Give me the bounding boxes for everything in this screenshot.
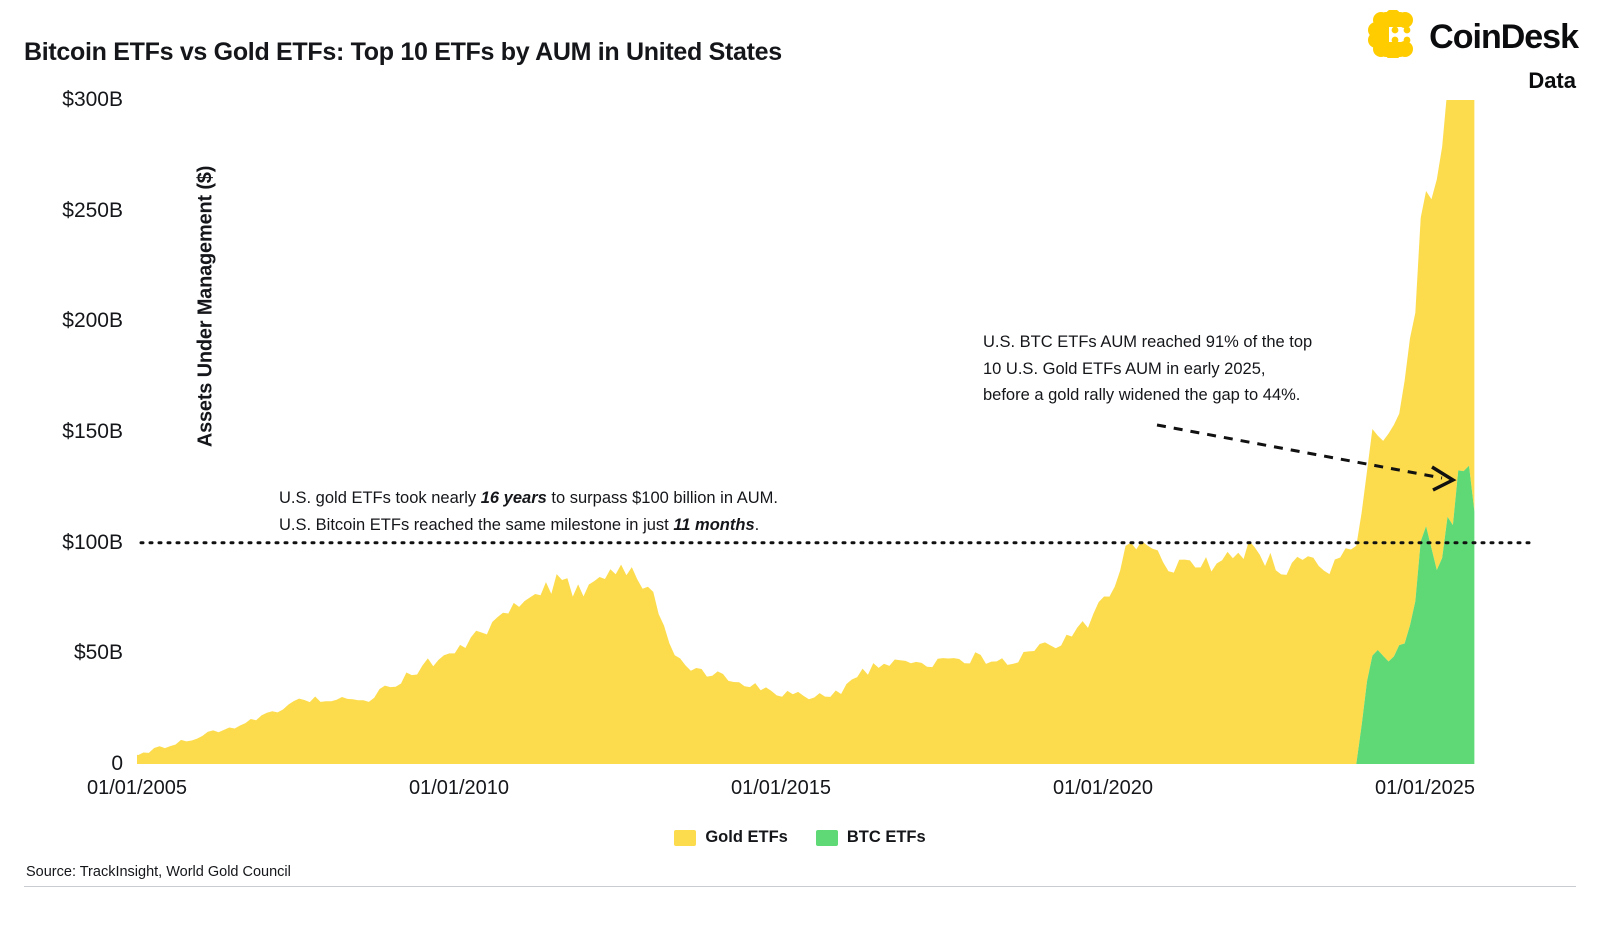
legend-swatch-gold-icon — [674, 830, 696, 846]
page-title: Bitcoin ETFs vs Gold ETFs: Top 10 ETFs b… — [24, 38, 782, 67]
annot-gold-l1-emph: 16 years — [481, 489, 547, 507]
y-tick-150: $150B — [62, 420, 123, 444]
y-tick-0: 0 — [111, 752, 123, 776]
x-tick-2020: 01/01/2020 — [1053, 777, 1153, 800]
annot-gold-l2-emph: 11 months — [673, 516, 754, 534]
coindesk-logo: CoinDesk Data — [1367, 10, 1578, 92]
annot-gold-l2-part1: U.S. Bitcoin ETFs reached the same miles… — [279, 516, 673, 534]
brand-subword: Data — [1528, 70, 1576, 92]
annotation-gold-line-2: U.S. Bitcoin ETFs reached the same miles… — [279, 512, 778, 539]
area-chart-svg — [137, 100, 1533, 764]
legend-label-btc: BTC ETFs — [847, 828, 926, 847]
chart-legend: Gold ETFs BTC ETFs — [0, 828, 1600, 847]
annotation-gold-line-1: U.S. gold ETFs took nearly 16 years to s… — [279, 485, 778, 512]
y-tick-200: $200B — [62, 309, 123, 333]
gold-etf-area — [137, 100, 1474, 764]
annot-gold-l1-part1: U.S. gold ETFs took nearly — [279, 489, 481, 507]
annotation-btc-share: U.S. BTC ETFs AUM reached 91% of the top… — [983, 329, 1312, 409]
annot-gold-l1-part2: to surpass $100 billion in AUM. — [547, 489, 778, 507]
annot-btc-line-1: U.S. BTC ETFs AUM reached 91% of the top — [983, 329, 1312, 356]
x-tick-2010: 01/01/2010 — [409, 777, 509, 800]
annot-btc-line-3: before a gold rally widened the gap to 4… — [983, 382, 1312, 409]
chart-plot-area: Assets Under Management ($) 0 $50B $100B… — [137, 100, 1533, 764]
footer-divider — [24, 886, 1576, 887]
source-note: Source: TrackInsight, World Gold Council — [26, 864, 291, 880]
y-tick-100: $100B — [62, 531, 123, 555]
x-tick-2025: 01/01/2025 — [1375, 777, 1475, 800]
legend-item-gold[interactable]: Gold ETFs — [674, 828, 788, 847]
annotation-gold-milestone: U.S. gold ETFs took nearly 16 years to s… — [279, 485, 778, 538]
x-tick-2015: 01/01/2015 — [731, 777, 831, 800]
coindesk-mark-icon — [1367, 10, 1419, 63]
y-tick-250: $250B — [62, 199, 123, 223]
legend-label-gold: Gold ETFs — [705, 828, 788, 847]
annot-btc-line-2: 10 U.S. Gold ETFs AUM in early 2025, — [983, 356, 1312, 383]
brand-wordmark: CoinDesk — [1429, 20, 1578, 54]
y-tick-300: $300B — [62, 88, 123, 112]
annot-gold-l2-part2: . — [755, 516, 760, 534]
y-tick-50: $50B — [74, 641, 123, 665]
legend-item-btc[interactable]: BTC ETFs — [816, 828, 926, 847]
legend-swatch-btc-icon — [816, 830, 838, 846]
x-tick-2005: 01/01/2005 — [87, 777, 187, 800]
